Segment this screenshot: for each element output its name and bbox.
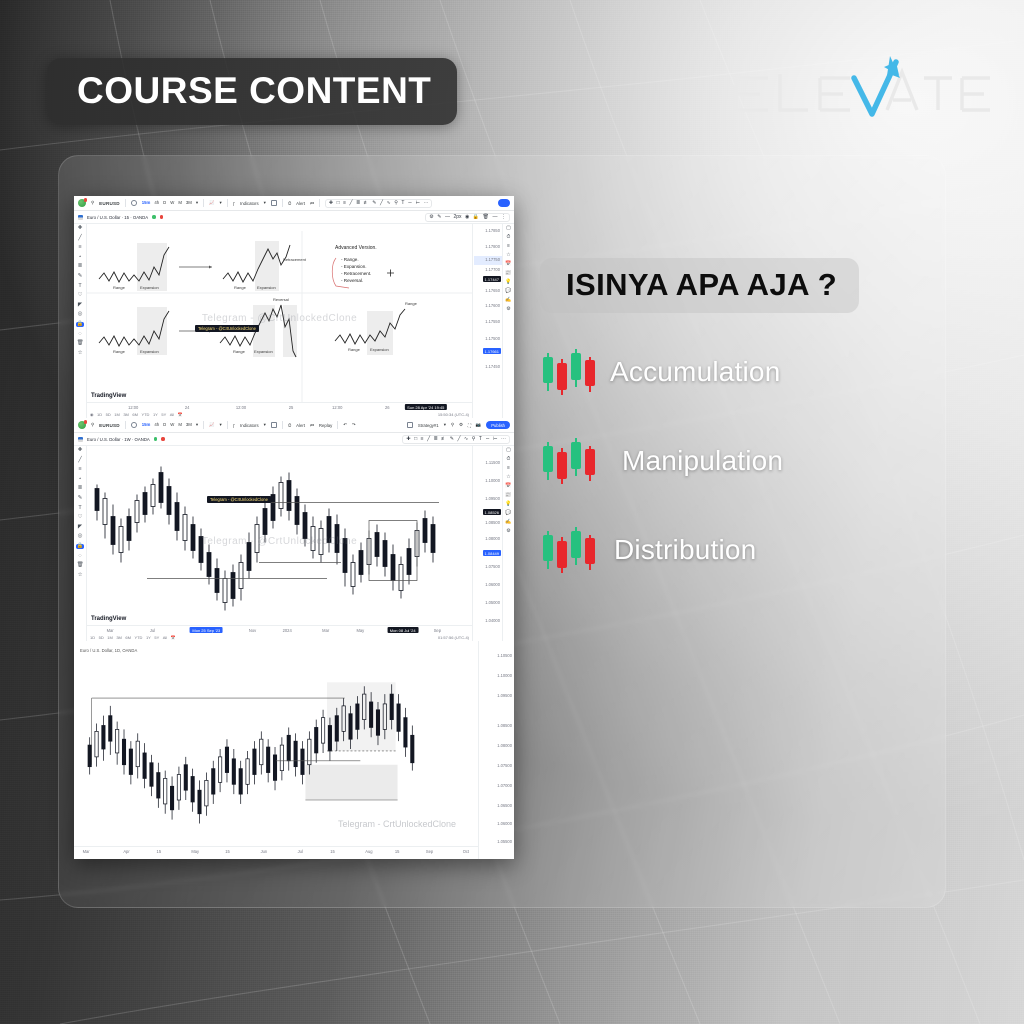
tv-chart-canvas[interactable]: Range Expansion Range Expansion Retracem… — [87, 224, 472, 418]
object-tools-toolbar[interactable]: ⚙ ✎ — 2px ◉ 🔒 🗑 — ⋮ — [425, 213, 510, 222]
price-axis[interactable]: 1.11500 1.10000 1.09500 1.08526 1.08500 … — [472, 446, 502, 641]
settings-icon[interactable]: ⚙ — [459, 422, 463, 428]
trash-icon[interactable]: 🗑 — [483, 215, 489, 220]
timeframe-3m[interactable]: 3M — [186, 200, 192, 206]
timeframe-group[interactable]: 15m 4h D W M 3M ▾ — [142, 200, 198, 206]
strategy-label[interactable]: Strategy#1 — [418, 423, 439, 428]
brush-icon[interactable]: ✎ — [78, 496, 83, 501]
crosshair-icon[interactable]: ✚ — [406, 437, 410, 442]
crosshair-icon[interactable]: ✚ — [329, 201, 333, 206]
time-tick: Mar — [322, 628, 329, 633]
range-selector[interactable]: 1D 5D 1M 3M 6M YTD 1Y 5Y All 📅 — [90, 635, 176, 640]
range-1y[interactable]: 1Y — [146, 635, 151, 640]
indicators-icon[interactable]: ƒ — [233, 201, 235, 206]
magnet-icon[interactable]: ◎ — [78, 534, 83, 539]
price-tick: 1.17450 — [485, 364, 500, 369]
strategy-checkbox[interactable] — [407, 422, 413, 428]
time-tick: May — [191, 849, 199, 854]
indicators-button[interactable]: Indicators — [240, 423, 259, 428]
drawing-tools-toolbar[interactable]: ✚ □ ≡ ╱ ≣ ≢ ✎ ╱ ∿ ⚲ T ∼ ⊢ ⋯ — [325, 199, 433, 208]
range-1d[interactable]: 1D — [90, 635, 95, 640]
tradingview-logo-icon — [78, 421, 86, 429]
snapshot-icon[interactable]: 📷 — [476, 422, 481, 428]
time-tick: 24 — [185, 405, 190, 410]
price-tick: 1.08500 — [485, 520, 500, 525]
time-tick: Sep — [434, 628, 441, 633]
range-6m[interactable]: 6M — [132, 412, 138, 417]
templates-icon[interactable] — [271, 422, 277, 428]
divider — [282, 421, 283, 429]
alert-icon[interactable]: ⏱ — [288, 423, 291, 428]
settings-icon[interactable]: ⚙ — [506, 307, 510, 312]
divider — [203, 421, 204, 429]
ruler-icon[interactable]: ◤ — [78, 303, 82, 308]
pattern-icon[interactable]: ∼ — [408, 201, 412, 206]
channel-icon[interactable]: ≣ — [356, 201, 360, 206]
timeframe-m[interactable]: M — [178, 200, 182, 206]
time-tick: 15 — [395, 849, 400, 854]
pattern-icon[interactable]: ∼ — [485, 437, 489, 442]
svg-text:Expansion: Expansion — [370, 347, 389, 352]
time-tick: Mar — [83, 849, 90, 854]
range-1y[interactable]: 1Y — [153, 412, 158, 417]
chevron-down-icon[interactable]: ▾ — [219, 422, 221, 428]
ideas-icon[interactable]: 💡 — [505, 280, 511, 285]
fib-icon[interactable]: ≣ — [78, 486, 83, 491]
range-6m[interactable]: 6M — [125, 635, 131, 640]
chart-title: Euro / U.S. Dollar, 1D, OANDA — [80, 648, 137, 653]
line-style-icon[interactable]: — — [445, 215, 450, 220]
time-tick: Jun — [261, 849, 268, 854]
horizontal-lines-icon[interactable]: ≡ — [78, 245, 81, 250]
search-icon[interactable]: ⚲ — [91, 200, 94, 206]
minimize-icon[interactable]: — — [493, 215, 498, 220]
crosshair-icon[interactable]: ✚ — [78, 226, 83, 231]
svg-text:Range: Range — [348, 347, 361, 352]
price-tick: 1.05500 — [497, 839, 512, 844]
search-icon[interactable]: ⚲ — [451, 422, 454, 428]
measure-icon[interactable]: ⊢ — [493, 437, 497, 442]
timeframe-d[interactable]: D — [163, 200, 166, 206]
chevron-down-icon[interactable]: ▾ — [219, 200, 221, 206]
alert-icon[interactable]: ⏱ — [288, 201, 291, 206]
range-3m[interactable]: 3M — [123, 412, 129, 417]
replay-button[interactable]: Replay — [319, 423, 332, 428]
time-tick: 2024 — [283, 628, 292, 633]
tradingview-logo-icon — [78, 199, 86, 207]
time-tick: Apr — [123, 849, 129, 854]
heart-icon[interactable]: ♡ — [78, 515, 83, 520]
price-tick: 1.06000 — [485, 582, 500, 587]
price-tick: 1.08000 — [485, 536, 500, 541]
tradingview-screenshot-15m[interactable]: ⚲ EURUSD 15m 4h D W M 3M ▾ 📈 ▾ ƒ Indicat… — [74, 196, 514, 418]
divider — [203, 199, 204, 207]
divider — [125, 199, 126, 207]
price-tick: 1.07500 — [485, 564, 500, 569]
candlestick-chart-icon — [540, 436, 598, 486]
time-tick: 12:00 — [128, 405, 138, 410]
chart-type-icon[interactable]: 📈 — [209, 422, 214, 428]
range-icon[interactable]: ≢ — [441, 437, 446, 442]
divider — [227, 199, 228, 207]
lock-icon[interactable]: 🔒 — [473, 215, 479, 220]
tv-chart-body: ✚ ╱ ≡ ⋆ ≣ ✎ T ♡ ◤ ◎ 🔒 ◌ 🗑 ☆ — [74, 446, 514, 641]
range-all[interactable]: All — [170, 412, 174, 417]
timeframe-4h[interactable]: 4h — [154, 200, 159, 206]
timeframe-3m[interactable]: 3M — [186, 422, 192, 428]
status-dot-red — [160, 215, 164, 219]
trend-line-icon[interactable]: ╱ — [78, 458, 81, 463]
price-tick: 1.05000 — [485, 600, 500, 605]
tradingview-brand: TradingView — [91, 393, 126, 399]
clock-label: 15:50:34 (UTC-4) — [438, 412, 469, 417]
price-tick: 1.07000 — [497, 783, 512, 788]
price-tick: 1.17850 — [485, 228, 500, 233]
horizontal-lines-icon[interactable]: ≡ — [421, 437, 424, 442]
tv-chart-body: Euro / U.S. Dollar, 1D, OANDA — [74, 641, 514, 859]
heart-icon[interactable]: ♡ — [78, 293, 83, 298]
tv-chart-header[interactable]: Euro / U.S. Dollar · 1W · OANDA ✚ □ ≡ ╱ … — [74, 433, 514, 446]
chart-title: Euro / U.S. Dollar · 1W · OANDA — [87, 437, 150, 442]
time-badge-end: Mon 08 Jul '24 — [387, 627, 418, 633]
data-window-icon[interactable]: ≡ — [507, 244, 510, 249]
list-item-accumulation[interactable]: Accumulation — [540, 347, 940, 397]
right-content-column: ISINYA APA AJA ? Accumulation — [540, 258, 940, 614]
search-icon[interactable]: ⚲ — [91, 422, 94, 428]
time-axis[interactable]: Mar Apr 15 May 15 Jun Jul 15 Aug 15 Sep … — [74, 846, 478, 859]
telegram-badge: Telegram - @CrtUnlockedClone — [207, 496, 271, 503]
news-icon[interactable]: 📰 — [505, 493, 511, 498]
notes-icon[interactable]: ✍ — [505, 298, 511, 303]
time-tick: 15 — [225, 849, 230, 854]
replay-icon[interactable]: ⏮ — [310, 423, 314, 428]
price-tick: 1.04000 — [485, 618, 500, 623]
horizontal-lines-icon[interactable]: ≡ — [343, 201, 346, 206]
range-icon[interactable]: ◉ — [90, 412, 94, 417]
alert-button[interactable]: Alert — [296, 423, 305, 428]
question-text: ISINYA APA AJA ? — [566, 269, 837, 300]
status-dot-green — [152, 215, 156, 219]
more-icon[interactable]: ⋯ — [423, 201, 428, 206]
rectangle-icon[interactable]: □ — [337, 201, 340, 206]
range-icon[interactable]: ≢ — [364, 201, 369, 206]
publish-button[interactable] — [498, 199, 510, 207]
list-item-label: Accumulation — [610, 356, 780, 388]
range-5y[interactable]: 5Y — [161, 412, 166, 417]
text-icon[interactable]: T — [78, 284, 81, 289]
hotlist-icon[interactable]: ☆ — [506, 253, 510, 258]
notes-icon[interactable]: ✍ — [505, 520, 511, 525]
tv-chart-header[interactable]: Euro / U.S. Dollar · 15 · OANDA ⚙ ✎ — 2p… — [74, 211, 514, 224]
eye-icon[interactable]: ◉ — [465, 215, 469, 220]
svg-text:Expansion: Expansion — [257, 285, 276, 290]
time-badge: Sun 28 Apr '24 19:45 — [405, 404, 447, 410]
news-icon[interactable]: 📰 — [505, 271, 511, 276]
telegram-badge: Telegram - @CrtUnlockedClone — [195, 325, 259, 332]
divider — [282, 199, 283, 207]
time-tick: Aug — [365, 849, 372, 854]
symbol-label[interactable]: EURUSD — [99, 201, 120, 206]
settings-icon[interactable]: ⚙ — [429, 215, 433, 220]
price-tick: 1.17750 — [485, 257, 500, 262]
more-icon[interactable]: ⋮ — [501, 215, 506, 220]
trend-line-icon[interactable]: ╱ — [350, 201, 353, 206]
svg-text:- Expansion.: - Expansion. — [341, 264, 367, 269]
magnet-icon[interactable]: ⚲ — [394, 201, 398, 206]
alert-button[interactable]: Alert — [296, 201, 305, 206]
price-tick: 1.10000 — [485, 478, 500, 483]
tv-toolbar[interactable]: ⚲ EURUSD 15m 4h D W M 3M ▾ 📈 ▾ ƒ Indicat… — [74, 418, 514, 433]
time-axis[interactable]: 12:00 24 12:00 25 12:00 26 Sun 28 Apr '2… — [87, 402, 472, 418]
time-tick: Sep — [426, 849, 433, 854]
watchlist-icon[interactable]: ▢ — [506, 226, 511, 231]
watchlist-icon[interactable]: ▢ — [506, 448, 511, 453]
divider — [337, 421, 338, 429]
chart-type-icon[interactable]: 📈 — [209, 200, 214, 206]
trend-line-icon[interactable]: ╱ — [78, 236, 81, 241]
current-price-tag: 1.17447 — [483, 276, 501, 282]
tradingview-screenshot-1d[interactable]: Euro / U.S. Dollar, 1D, OANDA — [74, 641, 514, 859]
favorites-icon[interactable]: ☆ — [78, 573, 83, 578]
pitchfork-icon[interactable]: ⋆ — [78, 477, 81, 482]
candlestick-chart-icon — [540, 525, 598, 575]
ideas-icon[interactable]: 💡 — [505, 502, 511, 507]
range-all[interactable]: All — [163, 635, 167, 640]
crosshair-icon[interactable]: ✚ — [78, 448, 83, 453]
price-tick: 1.09500 — [485, 496, 500, 501]
pattern-diagram: Range Expansion Range Expansion Retracem… — [87, 224, 472, 418]
settings-icon[interactable]: ⚙ — [506, 529, 510, 534]
price-tick: 1.08500 — [497, 723, 512, 728]
chevron-down-icon[interactable]: ▾ — [264, 422, 266, 428]
page-title: COURSE CONTENT — [77, 72, 431, 109]
trash-icon[interactable]: 🗑 — [77, 341, 84, 346]
time-tick: Oct — [463, 849, 469, 854]
question-badge: ISINYA APA AJA ? — [540, 258, 859, 313]
alert-price-tag: 1.08449 — [483, 550, 501, 556]
divider — [227, 421, 228, 429]
rectangle-icon[interactable]: □ — [414, 437, 417, 442]
favorites-icon[interactable]: ☆ — [78, 351, 83, 356]
calendar-icon[interactable]: 📅 — [505, 484, 511, 489]
calendar-icon[interactable]: 📅 — [178, 412, 183, 417]
price-tick: 1.17650 — [485, 288, 500, 293]
line-width-icon[interactable]: 2px — [453, 215, 461, 220]
hide-icon[interactable]: ◌ — [78, 332, 81, 337]
templates-icon[interactable] — [271, 200, 277, 206]
chat-icon[interactable]: 💬 — [505, 511, 511, 516]
price-tick: 1.08000 — [497, 743, 512, 748]
time-tick: Jul — [298, 849, 303, 854]
brush-icon[interactable]: ✎ — [450, 437, 454, 442]
price-tick: 1.06500 — [497, 803, 512, 808]
price-tick: 1.07500 — [497, 763, 512, 768]
svg-text:Range: Range — [113, 349, 126, 354]
brush-icon[interactable]: ✎ — [78, 274, 83, 279]
watermark: Telegram - CrtUnlockedClone — [338, 819, 456, 829]
range-1m[interactable]: 1M — [114, 412, 120, 417]
svg-text:- Range.: - Range. — [341, 257, 359, 262]
replay-icon[interactable]: ⏮ — [310, 201, 314, 206]
current-price-tag: 1.08526 — [483, 509, 501, 515]
time-tick: 25 — [289, 405, 294, 410]
candlestick-chart-icon — [540, 347, 598, 397]
fib-icon[interactable]: ∿ — [386, 201, 390, 206]
clock-label: 01:57:56 (UTC-4) — [438, 635, 469, 640]
eur-usd-flag-icon — [78, 215, 83, 220]
price-tick: 1.09500 — [497, 693, 512, 698]
price-tick: 1.17700 — [485, 267, 500, 272]
page-title-badge: COURSE CONTENT — [47, 58, 457, 125]
hide-icon[interactable]: ◌ — [78, 554, 81, 559]
trash-icon[interactable]: 🗑 — [77, 563, 84, 568]
timeframe-w[interactable]: W — [170, 200, 174, 206]
screenshot-stack: ⚲ EURUSD 15m 4h D W M 3M ▾ 📈 ▾ ƒ Indicat… — [74, 196, 514, 859]
time-tick: 26 — [385, 405, 390, 410]
tv-right-rail[interactable]: ▢ ⏱ ≡ ☆ 📅 📰 💡 💬 ✍ ⚙ — [502, 446, 514, 641]
range-5d[interactable]: 5D — [99, 635, 104, 640]
svg-text:Range: Range — [405, 301, 418, 306]
alerts-icon[interactable]: ⏱ — [507, 235, 511, 240]
add-compare-icon[interactable] — [131, 200, 137, 206]
range-5d[interactable]: 5D — [106, 412, 111, 417]
chevron-down-icon[interactable]: ▾ — [444, 422, 446, 428]
alerts-icon[interactable]: ⏱ — [507, 457, 511, 462]
time-axis[interactable]: Mar Jul Mon 25 Sep '23 Nov 2024 Mar May … — [87, 625, 472, 641]
time-tick: Mar — [107, 628, 114, 633]
time-tick: 12:00 — [332, 405, 342, 410]
fullscreen-icon[interactable]: ⛶ — [468, 423, 471, 428]
range-selector[interactable]: ◉ 1D 5D 1M 3M 6M YTD 1Y 5Y All 📅 — [90, 412, 183, 417]
price-axis[interactable]: 1.10500 1.10000 1.09500 1.08500 1.08000 … — [478, 641, 514, 859]
price-tick: 1.17500 — [485, 336, 500, 341]
tv-left-drawing-rail[interactable]: ✚ ╱ ≡ ⋆ ≣ ✎ T ♡ ◤ ◎ 🔒 ◌ 🗑 ☆ — [74, 224, 87, 418]
text-icon[interactable]: T — [401, 201, 404, 206]
eur-usd-flag-icon — [78, 437, 83, 442]
object-tools-toolbar[interactable]: ✚ □ ≡ ╱ ≣ ≢ ✎ ╱ ∿ ⚲ T ∼ ⊢ ⋯ — [402, 435, 510, 444]
price-tick: 1.11500 — [486, 460, 501, 465]
tv-toolbar[interactable]: ⚲ EURUSD 15m 4h D W M 3M ▾ 📈 ▾ ƒ Indicat… — [74, 196, 514, 211]
fib-icon[interactable]: ≣ — [78, 264, 83, 269]
chart-title: Euro / U.S. Dollar · 15 · OANDA — [87, 215, 148, 220]
status-dot-green — [154, 437, 158, 441]
svg-text:Expansion: Expansion — [254, 349, 273, 354]
svg-text:Expansion: Expansion — [140, 349, 159, 354]
time-tick: 12:00 — [236, 405, 246, 410]
magnet-icon[interactable]: ◎ — [78, 312, 83, 317]
text-icon[interactable]: T — [78, 506, 81, 511]
range-1m[interactable]: 1M — [107, 635, 113, 640]
tv-chart-canvas[interactable]: Euro / U.S. Dollar, 1D, OANDA — [74, 641, 478, 859]
svg-text:Retracement: Retracement — [283, 257, 307, 262]
tradingview-brand: TradingView — [91, 616, 126, 622]
text-icon[interactable]: T — [479, 437, 482, 442]
tv-left-drawing-rail[interactable]: ✚ ╱ ≡ ⋆ ≣ ✎ T ♡ ◤ ◎ 🔒 ◌ 🗑 ☆ — [74, 446, 87, 641]
svg-text:Range: Range — [113, 285, 126, 290]
ruler-icon[interactable]: ◤ — [78, 525, 82, 530]
chevron-down-icon[interactable]: ▾ — [196, 200, 198, 206]
timeframe-15m[interactable]: 15m — [142, 200, 151, 206]
lock-icon[interactable]: 🔒 — [76, 322, 85, 327]
more-icon[interactable]: ⋯ — [501, 437, 506, 442]
pitchfork-icon[interactable]: ⋆ — [78, 255, 81, 260]
alert-price-tag: 1.17661 — [483, 348, 501, 354]
tradingview-screenshot-1w[interactable]: ⚲ EURUSD 15m 4h D W M 3M ▾ 📈 ▾ ƒ Indicat… — [74, 418, 514, 641]
calendar-icon[interactable]: 📅 — [505, 262, 511, 267]
time-tick: Nov — [249, 628, 256, 633]
chat-icon[interactable]: 💬 — [505, 289, 511, 294]
tv-chart-canvas[interactable]: Telegram - @CrtUnlockedClone Telegram - … — [87, 446, 472, 641]
symbol-label[interactable]: EURUSD — [99, 423, 120, 428]
range-ytd[interactable]: YTD — [141, 412, 149, 417]
lock-icon[interactable]: 🔒 — [76, 544, 85, 549]
publish-button[interactable]: Publish — [486, 421, 510, 429]
status-dot-red — [161, 437, 165, 441]
indicators-button[interactable]: Indicators — [240, 201, 259, 206]
svg-text:Advanced Version.: Advanced Version. — [335, 245, 377, 251]
range-3m[interactable]: 3M — [116, 635, 122, 640]
measure-icon[interactable]: ⊢ — [416, 201, 420, 206]
horizontal-lines-icon[interactable]: ≡ — [78, 467, 81, 472]
tv-right-rail[interactable]: ▢ ⏱ ≡ ☆ 📅 📰 💡 💬 ✍ ⚙ — [502, 224, 514, 418]
svg-text:- Retracement.: - Retracement. — [341, 271, 371, 276]
timeframe-w[interactable]: W — [170, 422, 174, 428]
magnet-icon[interactable]: ⚲ — [472, 437, 476, 442]
pencil-icon[interactable]: ✎ — [437, 215, 441, 220]
range-5y[interactable]: 5Y — [154, 635, 159, 640]
range-1d[interactable]: 1D — [97, 412, 102, 417]
trend-line-icon[interactable]: ╱ — [427, 437, 430, 442]
price-tick: 1.10000 — [497, 673, 512, 678]
ray-icon[interactable]: ╱ — [380, 201, 383, 206]
chevron-down-icon[interactable]: ▾ — [264, 200, 266, 206]
data-window-icon[interactable]: ≡ — [507, 466, 510, 471]
elevate-logo — [714, 48, 994, 132]
time-badge-start: Mon 25 Sep '23 — [190, 627, 223, 633]
svg-text:Range: Range — [233, 349, 246, 354]
candlestick-series — [87, 446, 472, 641]
redo-icon[interactable]: ↷ — [352, 422, 356, 428]
calendar-icon[interactable]: 📅 — [171, 635, 176, 640]
timeframe-d[interactable]: D — [163, 422, 166, 428]
timeframe-m[interactable]: M — [178, 422, 182, 428]
timeframe-4h[interactable]: 4h — [154, 422, 159, 428]
list-item-manipulation[interactable]: Manipulation — [540, 436, 940, 486]
add-compare-icon[interactable] — [131, 422, 137, 428]
channel-icon[interactable]: ≣ — [434, 437, 438, 442]
chevron-down-icon[interactable]: ▾ — [196, 422, 198, 428]
fib-icon[interactable]: ∿ — [464, 437, 468, 442]
brush-icon[interactable]: ✎ — [372, 201, 376, 206]
undo-icon[interactable]: ↶ — [343, 422, 347, 428]
timeframe-group[interactable]: 15m 4h D W M 3M ▾ — [142, 422, 198, 428]
price-tick: 1.06000 — [497, 821, 512, 826]
timeframe-15m[interactable]: 15m — [142, 422, 151, 428]
time-tick: Jul — [150, 628, 155, 633]
svg-text:Expansion: Expansion — [140, 285, 159, 290]
range-ytd[interactable]: YTD — [134, 635, 142, 640]
indicators-icon[interactable]: ƒ — [233, 423, 235, 428]
svg-text:Reversal: Reversal — [273, 297, 289, 302]
list-item-label: Distribution — [614, 534, 756, 566]
ray-icon[interactable]: ╱ — [457, 437, 460, 442]
list-item-distribution[interactable]: Distribution — [540, 525, 940, 575]
feature-list: Accumulation Manipulation — [540, 347, 940, 575]
price-axis[interactable]: 1.17850 1.17800 1.17750 1.17700 1.17447 … — [472, 224, 502, 418]
divider — [319, 199, 320, 207]
divider — [125, 421, 126, 429]
hotlist-icon[interactable]: ☆ — [506, 475, 510, 480]
